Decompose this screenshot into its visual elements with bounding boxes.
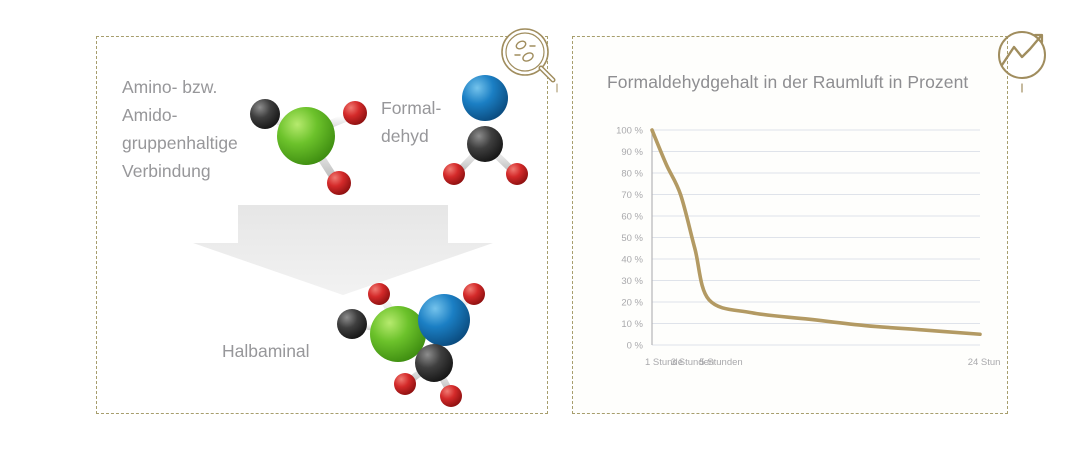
chart-y-axis-labels: 0 %10 %20 %30 %40 %50 %60 %70 %80 %90 %1… (616, 125, 643, 351)
chart-title: Formaldehydgehalt in der Raumluft in Pro… (607, 72, 968, 93)
chart-y-tick-label: 90 % (621, 147, 643, 158)
chart-y-tick-label: 0 % (627, 340, 644, 351)
chart-y-tick-label: 20 % (621, 297, 643, 308)
chart-x-tick-label: 24 Stunden (968, 357, 1000, 368)
label-formaldehyde: Formal- dehyd (381, 94, 471, 150)
trend-chart-icon (989, 22, 1061, 94)
label-halbaminal: Halbaminal (222, 337, 382, 365)
chart-y-tick-label: 30 % (621, 276, 643, 287)
chart-y-tick-label: 80 % (621, 168, 643, 179)
line-chart: 0 %10 %20 %30 %40 %50 %60 %70 %80 %90 %1… (600, 120, 1000, 385)
label-amino-compound: Amino- bzw. Amido- gruppenhaltige Verbin… (122, 73, 272, 185)
chart-y-tick-label: 60 % (621, 211, 643, 222)
chart-x-tick-label: 5 Stunden (699, 357, 742, 368)
chart-y-tick-label: 70 % (621, 190, 643, 201)
chart-gridlines (652, 130, 980, 345)
chart-series-line (652, 130, 980, 334)
chart-y-tick-label: 40 % (621, 254, 643, 265)
chart-y-tick-label: 100 % (616, 125, 643, 136)
chart-y-tick-label: 10 % (621, 319, 643, 330)
chart-x-axis-labels: 1 Stunde3 Stunden5 Stunden24 Stunden (645, 357, 1000, 368)
chart-y-tick-label: 50 % (621, 233, 643, 244)
magnifier-molecule-icon (495, 22, 567, 94)
